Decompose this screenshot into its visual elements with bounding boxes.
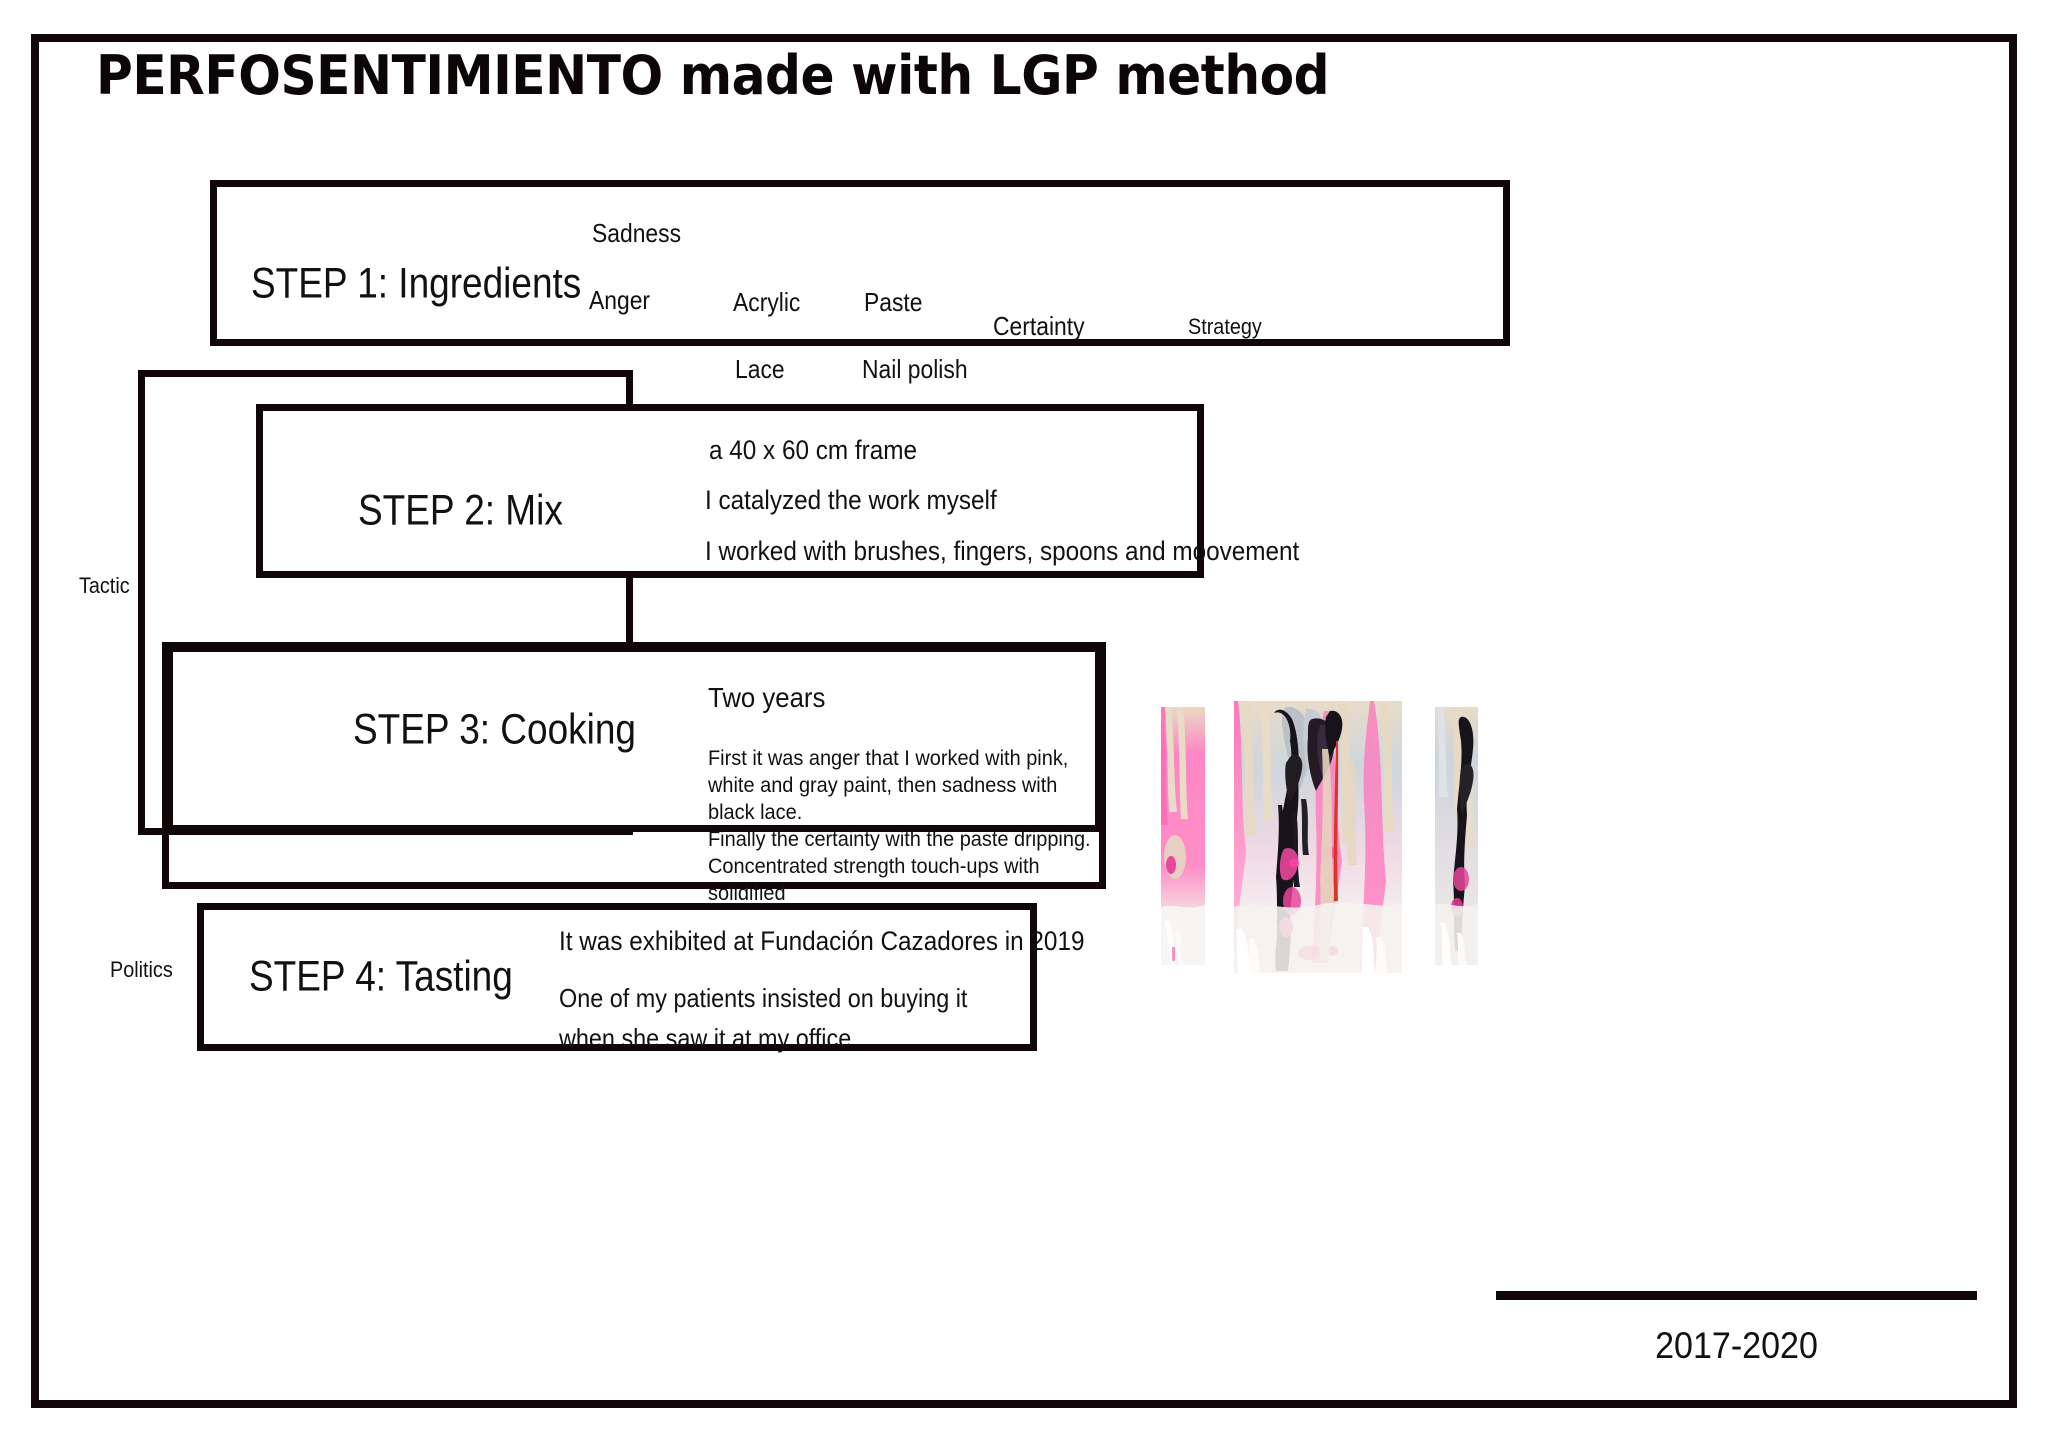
step-2-detail-frame: a 40 x 60 cm frame <box>709 435 917 466</box>
step-1-title: STEP 1: Ingredients <box>251 260 581 309</box>
step-3-duration: Two years <box>708 682 825 714</box>
page-title: PERFOSENTIMIENTO made with LGP method <box>96 44 1329 107</box>
ingredient-acrylic: Acrylic <box>733 287 800 318</box>
artwork-strip-left-graphic <box>1161 707 1205 965</box>
poster-canvas: PERFOSENTIMIENTO made with LGP method ST… <box>0 0 2048 1433</box>
step-2-detail-catalyze: I catalyzed the work myself <box>705 485 997 516</box>
side-label-tactic: Tactic <box>79 573 130 599</box>
ingredient-paste: Paste <box>864 287 923 318</box>
side-label-strategy: Strategy <box>1188 314 1262 340</box>
ingredient-sadness: Sadness <box>592 218 681 249</box>
artwork-date-range: 2017-2020 <box>1515 1325 1958 1367</box>
side-label-politics: Politics <box>110 957 173 983</box>
ingredient-anger: Anger <box>589 285 650 316</box>
step-2-title: STEP 2: Mix <box>358 487 563 536</box>
artwork-strip-left <box>1161 707 1205 965</box>
step-2-detail-tools: I worked with brushes, fingers, spoons a… <box>705 536 1299 567</box>
ingredient-lace: Lace <box>735 354 785 385</box>
artwork-main <box>1234 701 1402 973</box>
step-4-detail-purchase: One of my patients insisted on buying it… <box>559 978 973 1058</box>
artwork-strip-right-graphic <box>1435 707 1478 965</box>
step-4-detail-exhibition: It was exhibited at Fundación Cazadores … <box>559 926 1084 957</box>
step-4-title: STEP 4: Tasting <box>249 953 513 1002</box>
artwork-main-graphic <box>1234 701 1402 973</box>
artwork-divider-rule <box>1496 1291 1977 1300</box>
step-3-title: STEP 3: Cooking <box>353 706 636 755</box>
ingredient-nail-polish: Nail polish <box>862 354 968 385</box>
artwork-strip-right <box>1435 707 1478 965</box>
ingredient-certainty: Certainty <box>993 311 1085 342</box>
